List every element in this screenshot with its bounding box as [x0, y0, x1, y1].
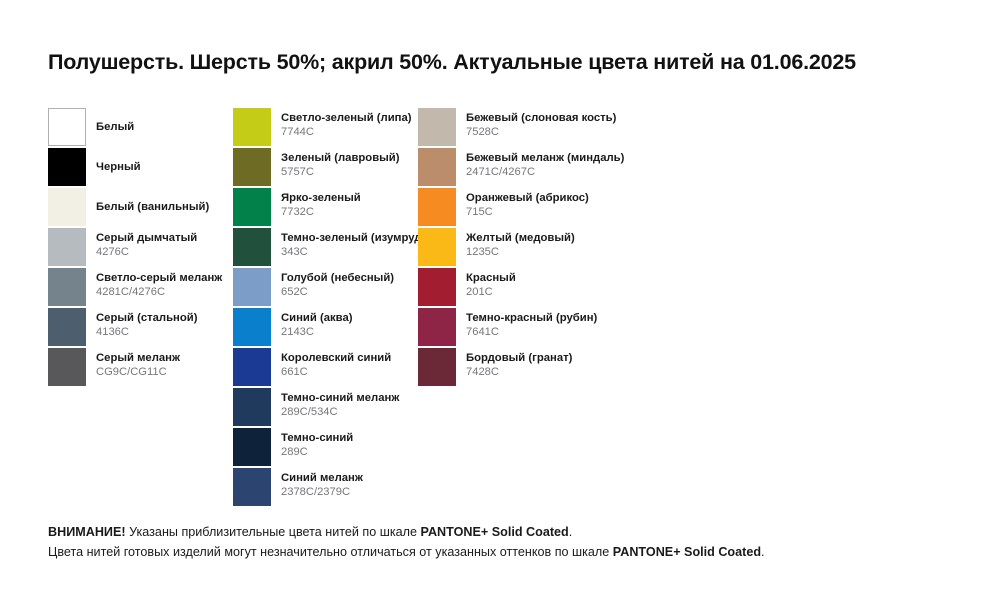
disclaimer-line-2-text: Цвета нитей готовых изделий могут незнач…: [48, 545, 613, 559]
color-labels: Синий меланж2378C/2379C: [281, 468, 363, 509]
pantone-brand-2: PANTONE+ Solid Coated: [613, 545, 761, 559]
color-labels: Светло-серый меланж4281C/4276C: [96, 268, 222, 309]
disclaimer-line-2: Цвета нитей готовых изделий могут незнач…: [48, 543, 948, 563]
pantone-code: 289C: [281, 445, 353, 459]
pantone-code: 4136C: [96, 325, 198, 339]
color-swatch: [233, 268, 271, 306]
color-swatch: [233, 428, 271, 466]
color-swatch: [418, 268, 456, 306]
pantone-code: 715C: [466, 205, 589, 219]
color-name: Ярко-зеленый: [281, 191, 361, 205]
color-row: Светло-зеленый (липа)7744C: [233, 108, 418, 148]
pantone-code: 2378C/2379C: [281, 485, 363, 499]
disclaimer-line-1: ВНИМАНИЕ! Указаны приблизительные цвета …: [48, 523, 948, 543]
color-name: Темно-красный (рубин): [466, 311, 597, 325]
color-name: Серый дымчатый: [96, 231, 197, 245]
color-name: Темно-синий: [281, 431, 353, 445]
color-labels: Желтый (медовый)1235C: [466, 228, 575, 269]
color-name: Серый (стальной): [96, 311, 198, 325]
color-swatch: [233, 108, 271, 146]
color-name: Королевский синий: [281, 351, 391, 365]
color-name: Черный: [96, 160, 141, 174]
disclaimer-footer: ВНИМАНИЕ! Указаны приблизительные цвета …: [48, 523, 948, 562]
color-swatch: [418, 188, 456, 226]
color-swatch: [233, 348, 271, 386]
color-swatch: [48, 308, 86, 346]
pantone-code: 4276C: [96, 245, 197, 259]
color-labels: Темно-зеленый (изумруд)343C: [281, 228, 425, 269]
color-row: Синий меланж2378C/2379C: [233, 468, 418, 508]
color-labels: Белый (ванильный): [96, 188, 209, 226]
color-labels: Темно-синий289C: [281, 428, 353, 469]
color-row: Бежевый меланж (миндаль)2471C/4267C: [418, 148, 718, 188]
color-labels: Серый меланжCG9C/CG11C: [96, 348, 180, 389]
swatch-column-neutrals: БелыйЧерныйБелый (ванильный)Серый дымчат…: [48, 108, 233, 508]
attention-label: ВНИМАНИЕ!: [48, 525, 126, 539]
pantone-code: 201C: [466, 285, 516, 299]
color-name: Желтый (медовый): [466, 231, 575, 245]
color-labels: Синий (аква)2143C: [281, 308, 353, 349]
color-name: Синий (аква): [281, 311, 353, 325]
color-name: Бежевый (слоновая кость): [466, 111, 616, 125]
color-labels: Белый: [96, 108, 134, 146]
pantone-code: 343C: [281, 245, 425, 259]
color-swatch: [48, 348, 86, 386]
pantone-brand-1: PANTONE+ Solid Coated: [420, 525, 568, 539]
color-swatch: [418, 108, 456, 146]
color-name: Оранжевый (абрикос): [466, 191, 589, 205]
color-swatch: [418, 148, 456, 186]
color-labels: Черный: [96, 148, 141, 186]
pantone-code: CG9C/CG11C: [96, 365, 180, 379]
color-swatch: [418, 348, 456, 386]
color-row: Голубой (небесный)652C: [233, 268, 418, 308]
color-name: Синий меланж: [281, 471, 363, 485]
color-name: Светло-зеленый (липа): [281, 111, 412, 125]
color-labels: Темно-синий меланж289C/534C: [281, 388, 399, 429]
color-row: Темно-синий меланж289C/534C: [233, 388, 418, 428]
pantone-code: 2143C: [281, 325, 353, 339]
color-labels: Бежевый меланж (миндаль)2471C/4267C: [466, 148, 624, 189]
color-labels: Бордовый (гранат)7428C: [466, 348, 572, 389]
pantone-code: 1235C: [466, 245, 575, 259]
pantone-code: 7428C: [466, 365, 572, 379]
color-row: Серый меланжCG9C/CG11C: [48, 348, 233, 388]
color-name: Темно-зеленый (изумруд): [281, 231, 425, 245]
color-row: Ярко-зеленый7732C: [233, 188, 418, 228]
swatch-column-warm: Бежевый (слоновая кость)7528CБежевый мел…: [418, 108, 718, 508]
color-swatch: [48, 148, 86, 186]
color-swatch: [48, 188, 86, 226]
color-row: Синий (аква)2143C: [233, 308, 418, 348]
color-swatch: [418, 308, 456, 346]
color-labels: Зеленый (лавровый)5757C: [281, 148, 400, 189]
pantone-code: 7744C: [281, 125, 412, 139]
color-labels: Оранжевый (абрикос)715C: [466, 188, 589, 229]
color-row: Белый: [48, 108, 233, 148]
pantone-code: 652C: [281, 285, 394, 299]
color-swatch: [48, 228, 86, 266]
color-labels: Ярко-зеленый7732C: [281, 188, 361, 229]
color-name: Светло-серый меланж: [96, 271, 222, 285]
color-name: Серый меланж: [96, 351, 180, 365]
pantone-code: 7641C: [466, 325, 597, 339]
disclaimer-line-1-text: Указаны приблизительные цвета нитей по ш…: [126, 525, 421, 539]
color-labels: Серый дымчатый4276C: [96, 228, 197, 269]
color-swatch: [48, 108, 86, 146]
color-row: Белый (ванильный): [48, 188, 233, 228]
color-row: Серый дымчатый4276C: [48, 228, 233, 268]
color-row: Бордовый (гранат)7428C: [418, 348, 718, 388]
page-title: Полушерсть. Шерсть 50%; акрил 50%. Актуа…: [48, 50, 856, 75]
pantone-code: 4281C/4276C: [96, 285, 222, 299]
color-swatch: [233, 308, 271, 346]
pantone-code: 5757C: [281, 165, 400, 179]
color-name: Красный: [466, 271, 516, 285]
color-row: Зеленый (лавровый)5757C: [233, 148, 418, 188]
color-chart-page: Полушерсть. Шерсть 50%; акрил 50%. Актуа…: [0, 0, 1000, 609]
disclaimer-line-1-period: .: [569, 525, 573, 539]
color-labels: Светло-зеленый (липа)7744C: [281, 108, 412, 149]
color-swatch: [418, 228, 456, 266]
color-name: Бежевый меланж (миндаль): [466, 151, 624, 165]
pantone-code: 289C/534C: [281, 405, 399, 419]
color-labels: Серый (стальной)4136C: [96, 308, 198, 349]
pantone-code: 7732C: [281, 205, 361, 219]
color-swatch: [233, 228, 271, 266]
disclaimer-line-2-period: .: [761, 545, 765, 559]
color-name: Зеленый (лавровый): [281, 151, 400, 165]
color-swatch: [48, 268, 86, 306]
color-swatch: [233, 188, 271, 226]
color-row: Серый (стальной)4136C: [48, 308, 233, 348]
color-labels: Бежевый (слоновая кость)7528C: [466, 108, 616, 149]
color-swatch: [233, 468, 271, 506]
pantone-code: 7528C: [466, 125, 616, 139]
color-row: Оранжевый (абрикос)715C: [418, 188, 718, 228]
color-row: Желтый (медовый)1235C: [418, 228, 718, 268]
pantone-code: 2471C/4267C: [466, 165, 624, 179]
color-labels: Красный201C: [466, 268, 516, 309]
color-labels: Голубой (небесный)652C: [281, 268, 394, 309]
color-name: Бордовый (гранат): [466, 351, 572, 365]
color-swatch: [233, 388, 271, 426]
color-labels: Темно-красный (рубин)7641C: [466, 308, 597, 349]
swatch-columns: БелыйЧерныйБелый (ванильный)Серый дымчат…: [48, 108, 968, 508]
color-labels: Королевский синий661C: [281, 348, 391, 389]
color-name: Голубой (небесный): [281, 271, 394, 285]
color-row: Темно-красный (рубин)7641C: [418, 308, 718, 348]
color-row: Королевский синий661C: [233, 348, 418, 388]
color-row: Красный201C: [418, 268, 718, 308]
color-name: Белый (ванильный): [96, 200, 209, 214]
color-row: Бежевый (слоновая кость)7528C: [418, 108, 718, 148]
color-row: Темно-синий289C: [233, 428, 418, 468]
color-row: Черный: [48, 148, 233, 188]
color-row: Светло-серый меланж4281C/4276C: [48, 268, 233, 308]
color-swatch: [233, 148, 271, 186]
swatch-column-greens-blues: Светло-зеленый (липа)7744CЗеленый (лавро…: [233, 108, 418, 508]
pantone-code: 661C: [281, 365, 391, 379]
color-name: Белый: [96, 120, 134, 134]
color-row: Темно-зеленый (изумруд)343C: [233, 228, 418, 268]
color-name: Темно-синий меланж: [281, 391, 399, 405]
